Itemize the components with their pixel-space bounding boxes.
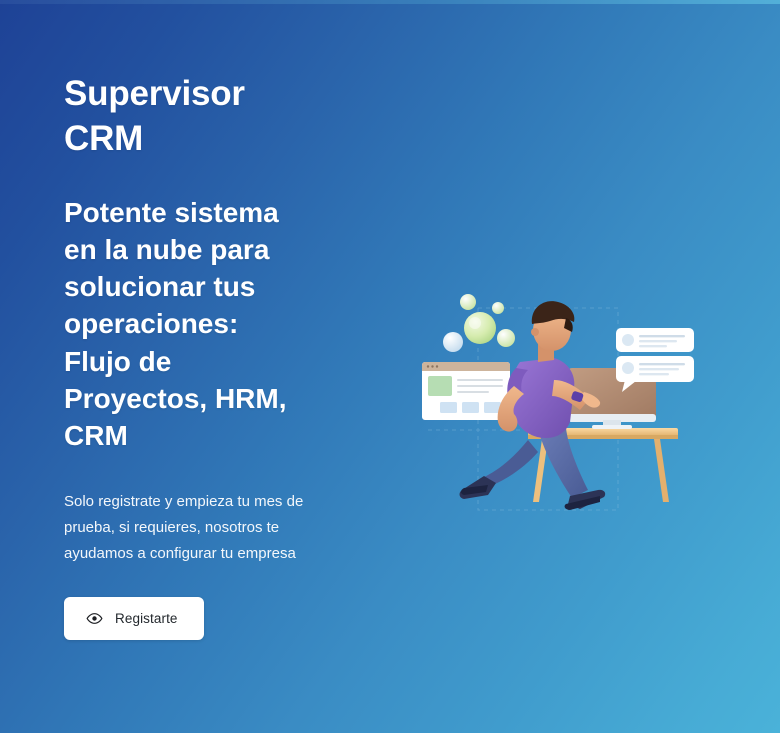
hero-section: Supervisor CRM Potente sistema en la nub… bbox=[0, 0, 780, 733]
browser-window-card bbox=[422, 362, 510, 420]
register-button-label: Registarte bbox=[115, 611, 178, 626]
register-button[interactable]: Registarte bbox=[64, 597, 204, 640]
hero-subtitle: Potente sistema en la nube para solucion… bbox=[64, 194, 290, 455]
hero-description: Solo registrate y empieza tu mes de prue… bbox=[64, 489, 304, 566]
molecule-bubbles bbox=[443, 294, 515, 352]
hero-copy-block: Supervisor CRM Potente sistema en la nub… bbox=[64, 72, 364, 640]
eye-icon bbox=[86, 610, 103, 627]
page-top-edge bbox=[0, 0, 780, 4]
hero-illustration bbox=[420, 280, 720, 540]
chat-bubble-top bbox=[616, 328, 694, 352]
page-title: Supervisor CRM bbox=[64, 72, 294, 162]
